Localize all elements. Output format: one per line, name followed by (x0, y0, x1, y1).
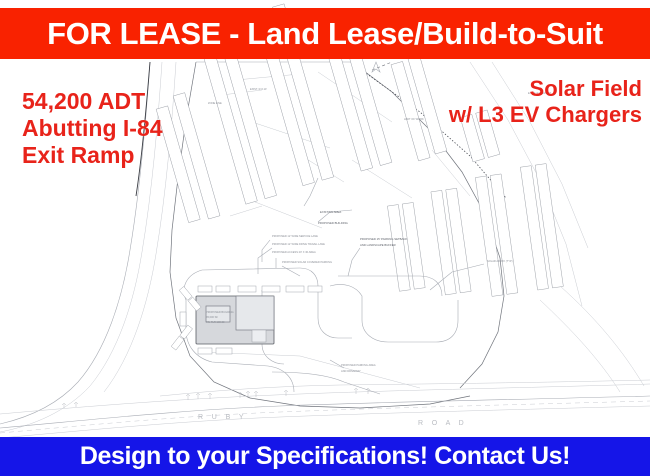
svg-text:PROPOSED SOLAR COVERED PARKING: PROPOSED SOLAR COVERED PARKING (282, 260, 332, 264)
svg-text:ZONE LINE: ZONE LINE (208, 101, 222, 105)
svg-text:SOLAR ARRAY (TYP): SOLAR ARRAY (TYP) (487, 259, 513, 263)
svg-text:EXIST. R.O.W.: EXIST. R.O.W. (250, 87, 267, 91)
svg-text:LIMIT OF WORK: LIMIT OF WORK (404, 117, 424, 121)
svg-text:PROPOSED PARKING AREA: PROPOSED PARKING AREA (341, 363, 376, 367)
building-footprint (196, 296, 274, 344)
ruby-road (0, 380, 650, 438)
svg-text:AND LANDSCAPE BUFFER: AND LANDSCAPE BUFFER (360, 243, 396, 247)
svg-text:EXISTING AREA: EXISTING AREA (320, 210, 341, 214)
callout-right-line-1: Solar Field (449, 76, 642, 102)
callout-traffic-count: 54,200 ADT Abutting I-84 Exit Ramp (22, 88, 163, 169)
bottom-banner-contact: Design to your Specifications! Contact U… (0, 437, 650, 476)
road-label-road: R O A D (418, 420, 467, 427)
svg-text:45,000 SF: 45,000 SF (206, 315, 218, 319)
site-plan-drawing: EXISTING AREA PROPOSED BUILDING PROPOSED… (0, 0, 650, 476)
road-name-labels: R U B Y R O A D (198, 414, 467, 427)
svg-text:PROPOSED 12' WIDE DRIVE TRAVEL: PROPOSED 12' WIDE DRIVE TRAVEL LANE (272, 242, 325, 246)
svg-text:PROPOSED BUILDING: PROPOSED BUILDING (318, 221, 348, 225)
road-label-ruby: R U B Y (198, 414, 247, 421)
callout-left-line-2: Abutting I-84 (22, 115, 163, 142)
solar-array-field-east (385, 164, 564, 309)
callout-solar-field: Solar Field w/ L3 EV Chargers (449, 76, 642, 128)
svg-text:PROPOSED 15' PARKING SETBACK: PROPOSED 15' PARKING SETBACK (360, 237, 407, 241)
callout-left-line-3: Exit Ramp (22, 142, 163, 169)
svg-text:AND DRIVEWAY: AND DRIVEWAY (341, 369, 361, 373)
svg-text:FIN FLR 100.00: FIN FLR 100.00 (206, 320, 225, 324)
callout-left-line-1: 54,200 ADT (22, 88, 163, 115)
svg-text:PROPOSED ACCESS 20' X 30 AREA: PROPOSED ACCESS 20' X 30 AREA (272, 250, 316, 254)
top-banner-for-lease: FOR LEASE - Land Lease/Build-to-Suit (0, 8, 650, 59)
callout-right-line-2: w/ L3 EV Chargers (449, 102, 642, 128)
lease-flyer: EXISTING AREA PROPOSED BUILDING PROPOSED… (0, 0, 650, 476)
svg-text:PROPOSED 12' WIDE SERVICE LANE: PROPOSED 12' WIDE SERVICE LANE (272, 234, 318, 238)
svg-text:PROPOSED BUILDING: PROPOSED BUILDING (206, 310, 234, 314)
